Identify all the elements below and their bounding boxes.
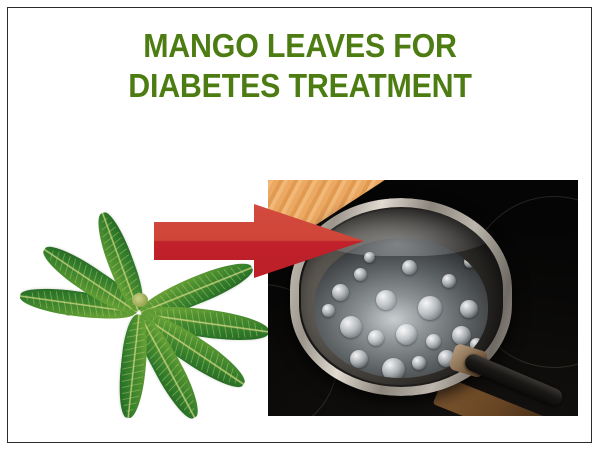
arrow-shape xyxy=(154,204,364,278)
leaf xyxy=(115,313,151,419)
leaf-node xyxy=(132,293,148,307)
page-title: MANGO LEAVES FOR DIABETES TREATMENT xyxy=(0,26,600,106)
title-line-2: DIABETES TREATMENT xyxy=(24,66,576,106)
poster-canvas: MANGO LEAVES FOR DIABETES TREATMENT xyxy=(0,0,600,450)
title-line-1: MANGO LEAVES FOR xyxy=(24,26,576,66)
red-right-arrow-icon xyxy=(150,198,370,284)
